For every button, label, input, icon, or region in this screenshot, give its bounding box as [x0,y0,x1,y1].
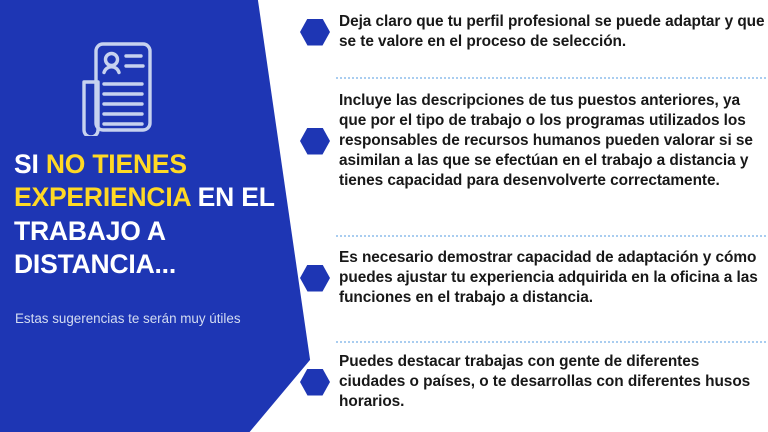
headline-part-no-tienes: NO TIENES [46,149,187,179]
resume-cv-icon [66,38,158,136]
list-item: Deja claro que tu perfil profesional se … [300,12,768,52]
list-item: Puedes destacar trabajas con gente de di… [300,352,768,412]
tip-text: Es necesario demostrar capacidad de adap… [339,248,768,308]
hexagon-bullet-icon [300,128,330,155]
hexagon-bullet-icon [300,369,330,396]
page-subtitle: Estas sugerencias te serán muy útiles [15,308,255,330]
list-item: Es necesario demostrar capacidad de adap… [300,248,768,308]
tip-text: Puedes destacar trabajas con gente de di… [339,352,768,412]
hexagon-bullet-icon [300,265,330,292]
hexagon-bullet-icon [300,19,330,46]
list-item: Incluye las descripciones de tus puestos… [300,91,768,191]
tips-list: Deja claro que tu perfil profesional se … [300,0,768,432]
headline-part-experiencia: EXPERIENCIA [14,182,190,212]
headline-part-si: SI [14,149,46,179]
page-title: SI NO TIENES EXPERIENCIA EN EL TRABAJO A… [14,148,276,282]
tip-text: Incluye las descripciones de tus puestos… [339,91,768,191]
slide-canvas: SI NO TIENES EXPERIENCIA EN EL TRABAJO A… [0,0,768,432]
tip-text: Deja claro que tu perfil profesional se … [339,12,768,52]
